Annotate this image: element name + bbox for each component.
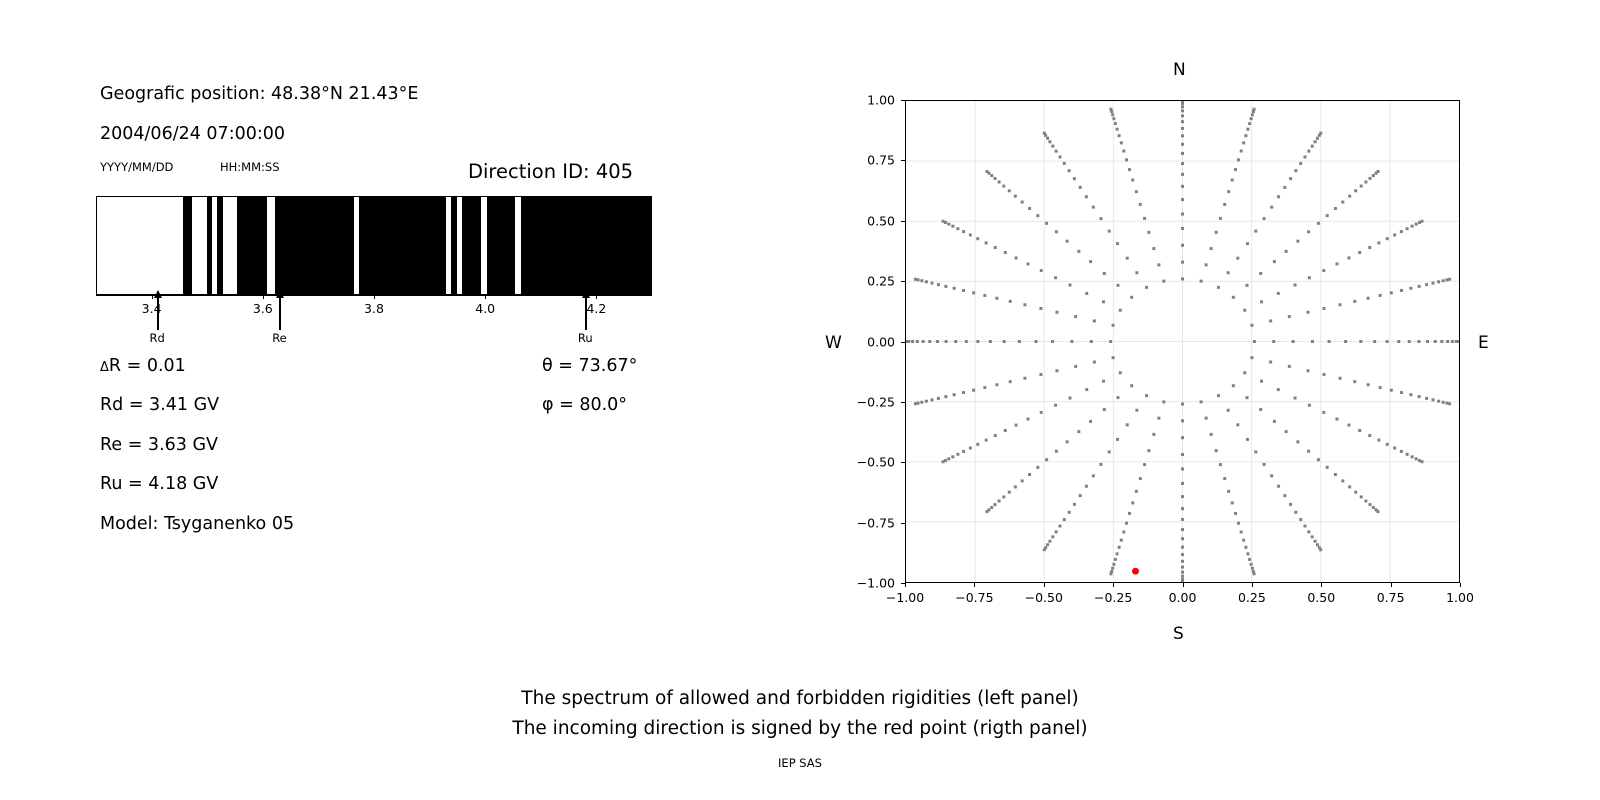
direction-point [1046, 543, 1049, 546]
direction-point [1181, 453, 1184, 456]
direction-point [1039, 307, 1042, 310]
direction-point [947, 223, 950, 226]
direction-point [1296, 440, 1299, 443]
direction-point [1294, 169, 1297, 172]
direction-point [1269, 361, 1272, 364]
direction-point [1446, 340, 1449, 343]
direction-point [1254, 230, 1257, 233]
direction-point [1328, 340, 1331, 343]
direction-point [985, 241, 988, 244]
direction-point [1181, 101, 1184, 102]
direction-point [1181, 528, 1184, 531]
direction-point [1217, 286, 1220, 289]
direction-point [936, 340, 939, 343]
direction-point [1089, 420, 1092, 423]
direction-point [1400, 391, 1403, 394]
direction-point [1205, 263, 1208, 266]
direction-point [1181, 152, 1184, 155]
direction-point [983, 294, 986, 297]
direction-point [1181, 105, 1184, 108]
direction-point [1048, 540, 1051, 543]
direction-map-plot [905, 100, 1460, 583]
direction-point [1034, 340, 1037, 343]
direction-point [1223, 203, 1226, 206]
direction-point [944, 285, 947, 288]
direction-point [1200, 400, 1203, 403]
direction-point [1442, 279, 1445, 282]
direction-point [1263, 217, 1266, 220]
direction-point [1116, 242, 1119, 245]
direction-point [1043, 548, 1046, 551]
highlight-point [1132, 568, 1139, 575]
direction-point [1200, 280, 1203, 283]
direction-point [1112, 563, 1115, 566]
direction-point [1372, 506, 1375, 509]
map-y-tick-label: −1.00 [843, 576, 895, 591]
direction-point [1451, 340, 1454, 343]
direction-point [1181, 507, 1184, 510]
direction-point [1181, 560, 1184, 563]
direction-point [1244, 134, 1247, 137]
direction-point [1432, 282, 1435, 285]
direction-point [1108, 450, 1111, 453]
direction-point [1288, 365, 1291, 368]
direction-point [1215, 449, 1218, 452]
map-x-tick-label: 1.00 [1446, 590, 1474, 605]
direction-point [1135, 271, 1138, 274]
map-x-tick-label: 0.25 [1238, 590, 1266, 605]
direction-point [1296, 240, 1299, 243]
direction-point [1354, 491, 1357, 494]
direction-point [920, 279, 923, 282]
direction-point [956, 227, 959, 230]
direction-point [1205, 417, 1208, 420]
direction-point [1181, 114, 1184, 117]
direction-point [1253, 340, 1256, 343]
direction-point [1002, 185, 1005, 188]
direction-point [1039, 373, 1042, 376]
direction-point [1326, 466, 1329, 469]
direction-point [1219, 463, 1222, 466]
direction-point [1122, 530, 1125, 533]
map-x-tick [905, 583, 906, 587]
direction-point [1236, 423, 1239, 426]
direction-point [1157, 417, 1160, 420]
direction-point [1358, 429, 1361, 432]
direction-point [1322, 269, 1325, 272]
direction-point [1334, 473, 1337, 476]
map-x-tick [1460, 583, 1461, 587]
direction-point [1181, 120, 1184, 123]
direction-point [1073, 177, 1076, 180]
direction-point [1418, 285, 1421, 288]
direction-point [1397, 340, 1400, 343]
direction-point [1347, 424, 1350, 427]
direction-point [1036, 214, 1039, 217]
direction-point [1009, 380, 1012, 383]
direction-point [1237, 158, 1240, 161]
direction-point [1231, 501, 1234, 504]
direction-point [1307, 150, 1310, 153]
direction-point [1408, 340, 1411, 343]
direction-point [1289, 503, 1292, 506]
map-x-tick-label: 0.50 [1307, 590, 1335, 605]
direction-point [1028, 207, 1031, 210]
direction-point [1143, 217, 1146, 220]
map-x-tick-label: 0.00 [1169, 590, 1197, 605]
direction-point [1242, 141, 1245, 144]
direction-point [1237, 522, 1240, 525]
direction-point [1077, 430, 1080, 433]
direction-point [962, 450, 965, 453]
direction-point [1432, 398, 1435, 401]
compass-north-label: N [1173, 60, 1186, 80]
direction-point [1099, 463, 1102, 466]
direction-point [1339, 303, 1342, 306]
direction-point [1411, 455, 1414, 458]
direction-point [1181, 419, 1184, 422]
direction-point [1048, 140, 1051, 143]
direction-point [942, 460, 945, 463]
map-y-tick-label: 0.50 [843, 213, 895, 228]
direction-point [1259, 408, 1262, 411]
direction-point [1317, 458, 1320, 461]
direction-point [1377, 241, 1380, 244]
direction-point [1055, 530, 1058, 533]
direction-point [1250, 563, 1253, 566]
direction-point [1181, 227, 1184, 230]
direction-point [1051, 340, 1054, 343]
direction-point [937, 397, 940, 400]
direction-point [1445, 278, 1448, 281]
direction-point [1135, 490, 1138, 493]
direction-point [1073, 503, 1076, 506]
direction-point [1314, 140, 1317, 143]
direction-point [1116, 552, 1119, 555]
direction-point [1277, 292, 1280, 295]
direction-point [1210, 247, 1213, 250]
direction-point [1323, 373, 1326, 376]
direction-point [1308, 276, 1311, 279]
direction-point [944, 395, 947, 398]
direction-point [1018, 340, 1021, 343]
map-x-tick-label: −0.75 [955, 590, 993, 605]
direction-point [930, 398, 933, 401]
direction-point [1131, 179, 1134, 182]
direction-point [994, 434, 997, 437]
direction-point [1260, 300, 1263, 303]
direction-point [1102, 380, 1105, 383]
direction-point [1317, 222, 1320, 225]
direction-point [1299, 162, 1302, 165]
direction-point [976, 340, 979, 343]
direction-point [1240, 150, 1243, 153]
direction-point [985, 170, 988, 173]
direction-point [1243, 309, 1246, 312]
direction-point [1377, 170, 1380, 173]
direction-point [1386, 340, 1389, 343]
direction-point [994, 246, 997, 249]
direction-point [1437, 280, 1440, 283]
direction-point [998, 500, 1001, 503]
compass-west-label: W [825, 333, 842, 353]
map-y-tick [901, 160, 905, 161]
direction-point [1093, 319, 1096, 322]
direction-point [1283, 494, 1286, 497]
map-x-tick [974, 583, 975, 587]
direction-point [976, 237, 979, 240]
direction-point [953, 393, 956, 396]
direction-point [1289, 177, 1292, 180]
direction-point [1125, 522, 1128, 525]
direction-point [1263, 463, 1266, 466]
map-y-tick-label: 0.00 [843, 334, 895, 349]
direction-point [1181, 467, 1184, 470]
direction-point [1246, 552, 1249, 555]
caption-line-2: The incoming direction is signed by the … [0, 718, 1600, 739]
direction-point [1307, 230, 1310, 233]
direction-point [1360, 495, 1363, 498]
direction-point [1181, 553, 1184, 556]
direction-point [1014, 485, 1017, 488]
direction-point [1219, 217, 1222, 220]
footer-label: IEP SAS [0, 756, 1600, 770]
direction-point [1386, 443, 1389, 446]
direction-point [1227, 490, 1230, 493]
direction-point [1270, 474, 1273, 477]
map-y-tick [901, 221, 905, 222]
direction-point [1455, 340, 1458, 343]
direction-point [1055, 311, 1058, 314]
direction-point [1377, 439, 1380, 442]
direction-point [1045, 222, 1048, 225]
direction-point [1055, 450, 1058, 453]
map-y-tick [901, 100, 905, 101]
direction-point [1118, 134, 1121, 137]
direction-point [1068, 511, 1071, 514]
direction-point [1285, 430, 1288, 433]
direction-point [1411, 225, 1414, 228]
direction-point [1051, 145, 1054, 148]
direction-point [1260, 380, 1263, 383]
direction-point [1400, 230, 1403, 233]
direction-point [1181, 198, 1184, 201]
direction-point [1181, 482, 1184, 485]
direction-point [1152, 433, 1155, 436]
direction-point [1442, 401, 1445, 404]
direction-point [1292, 340, 1295, 343]
direction-point [1307, 311, 1310, 314]
incoming-direction-marker [1132, 568, 1139, 575]
direction-point [1085, 485, 1088, 488]
direction-point [1085, 292, 1088, 295]
direction-point [937, 283, 940, 286]
direction-point [1103, 272, 1106, 275]
direction-point [1253, 572, 1256, 575]
direction-point [925, 280, 928, 283]
direction-point [1248, 122, 1251, 125]
direction-point [1288, 315, 1291, 318]
direction-point [969, 233, 972, 236]
direction-point [1210, 433, 1213, 436]
direction-point [1181, 518, 1184, 521]
map-x-tick-label: −0.50 [1025, 590, 1063, 605]
direction-point [1393, 447, 1396, 450]
direction-point [1303, 525, 1306, 528]
direction-point [1316, 543, 1319, 546]
direction-point [1319, 548, 1322, 551]
direction-point [916, 340, 919, 343]
direction-point [1303, 155, 1306, 158]
map-y-tick [901, 342, 905, 343]
direction-point [1319, 132, 1322, 135]
direction-point [990, 174, 993, 177]
direction-point [1135, 409, 1138, 412]
direction-point [1242, 539, 1245, 542]
direction-point [1055, 369, 1058, 372]
map-x-tick-label: 0.75 [1377, 590, 1405, 605]
direction-point [1009, 300, 1012, 303]
direction-point [1145, 394, 1148, 397]
direction-point [1341, 201, 1344, 204]
direction-point [985, 510, 988, 513]
direction-point [945, 340, 948, 343]
direction-point [1130, 384, 1133, 387]
direction-point [1181, 571, 1184, 574]
direction-point [1334, 207, 1337, 210]
direction-point [1181, 537, 1184, 540]
direction-point [1251, 113, 1254, 116]
direction-point [1341, 479, 1344, 482]
direction-point [1231, 179, 1234, 182]
direction-point [1250, 324, 1253, 327]
direction-point [1227, 409, 1230, 412]
direction-point [1294, 511, 1297, 514]
direction-point [994, 177, 997, 180]
direction-point [1181, 134, 1184, 137]
direction-point [1246, 438, 1249, 441]
direction-point [1368, 246, 1371, 249]
direction-point [1294, 283, 1297, 286]
direction-point [1055, 150, 1058, 153]
direction-point [1243, 371, 1246, 374]
direction-point [1386, 237, 1389, 240]
map-y-tick-label: 1.00 [843, 93, 895, 108]
direction-point [1055, 230, 1058, 233]
direction-point [1040, 269, 1043, 272]
direction-point [1181, 185, 1184, 188]
direction-point [1277, 195, 1280, 198]
direction-point [1092, 474, 1095, 477]
direction-point [1112, 324, 1115, 327]
direction-point [1181, 143, 1184, 146]
direction-point [1393, 233, 1396, 236]
direction-point [917, 278, 920, 281]
direction-point [1003, 340, 1006, 343]
direction-point [1045, 458, 1048, 461]
direction-point [1259, 272, 1262, 275]
direction-point [1119, 309, 1122, 312]
direction-point [1181, 277, 1184, 280]
direction-point [1128, 168, 1131, 171]
direction-point [1004, 251, 1007, 254]
direction-point [1308, 404, 1311, 407]
caption-line-1: The spectrum of allowed and forbidden ri… [0, 688, 1600, 709]
direction-point [1417, 340, 1420, 343]
direction-point [1307, 530, 1310, 533]
map-x-tick [1391, 583, 1392, 587]
direction-point [1114, 558, 1117, 561]
direction-point [1051, 535, 1054, 538]
direction-point [1043, 132, 1046, 135]
direction-point [1379, 386, 1382, 389]
compass-east-label: E [1478, 333, 1489, 353]
direction-point [1353, 380, 1356, 383]
direction-point [914, 278, 917, 281]
direction-point [1373, 340, 1376, 343]
direction-point [1054, 276, 1057, 279]
direction-point [1400, 450, 1403, 453]
direction-point [1074, 365, 1077, 368]
direction-point [1130, 296, 1133, 299]
direction-point [1409, 393, 1412, 396]
direction-point [1269, 319, 1272, 322]
direction-point [1068, 283, 1071, 286]
direction-point [1354, 189, 1357, 192]
direction-point [1126, 257, 1129, 260]
direction-point [1246, 396, 1249, 399]
direction-point [1181, 436, 1184, 439]
direction-point [1240, 530, 1243, 533]
direction-point [1272, 340, 1275, 343]
direction-point [1250, 117, 1253, 120]
direction-point [1418, 395, 1421, 398]
direction-point [995, 297, 998, 300]
direction-point [1250, 356, 1253, 359]
direction-point [994, 503, 997, 506]
map-y-tick [901, 402, 905, 403]
direction-point [1246, 284, 1249, 287]
map-y-tick-label: 0.25 [843, 274, 895, 289]
direction-point [1360, 185, 1363, 188]
direction-point [1066, 440, 1069, 443]
direction-point [1347, 256, 1350, 259]
direction-point [1420, 220, 1423, 223]
direction-point [1339, 377, 1342, 380]
direction-point [983, 386, 986, 389]
direction-point [1021, 479, 1024, 482]
direction-point [1008, 189, 1011, 192]
map-x-tick [1183, 583, 1184, 587]
direction-point [1135, 190, 1138, 193]
direction-point [1068, 397, 1071, 400]
direction-point [1122, 150, 1125, 153]
direction-point [1326, 214, 1329, 217]
map-y-tick [901, 523, 905, 524]
map-x-tick-label: −0.25 [1094, 590, 1132, 605]
direction-point [1119, 371, 1122, 374]
direction-point [1181, 173, 1184, 176]
direction-point [1367, 383, 1370, 386]
direction-point [1358, 251, 1361, 254]
direction-point [1307, 369, 1310, 372]
direction-point [1181, 495, 1184, 498]
direction-point [1227, 190, 1230, 193]
direction-point [1181, 546, 1184, 549]
direction-point [1126, 423, 1129, 426]
direction-point [1379, 294, 1382, 297]
direction-point [990, 506, 993, 509]
